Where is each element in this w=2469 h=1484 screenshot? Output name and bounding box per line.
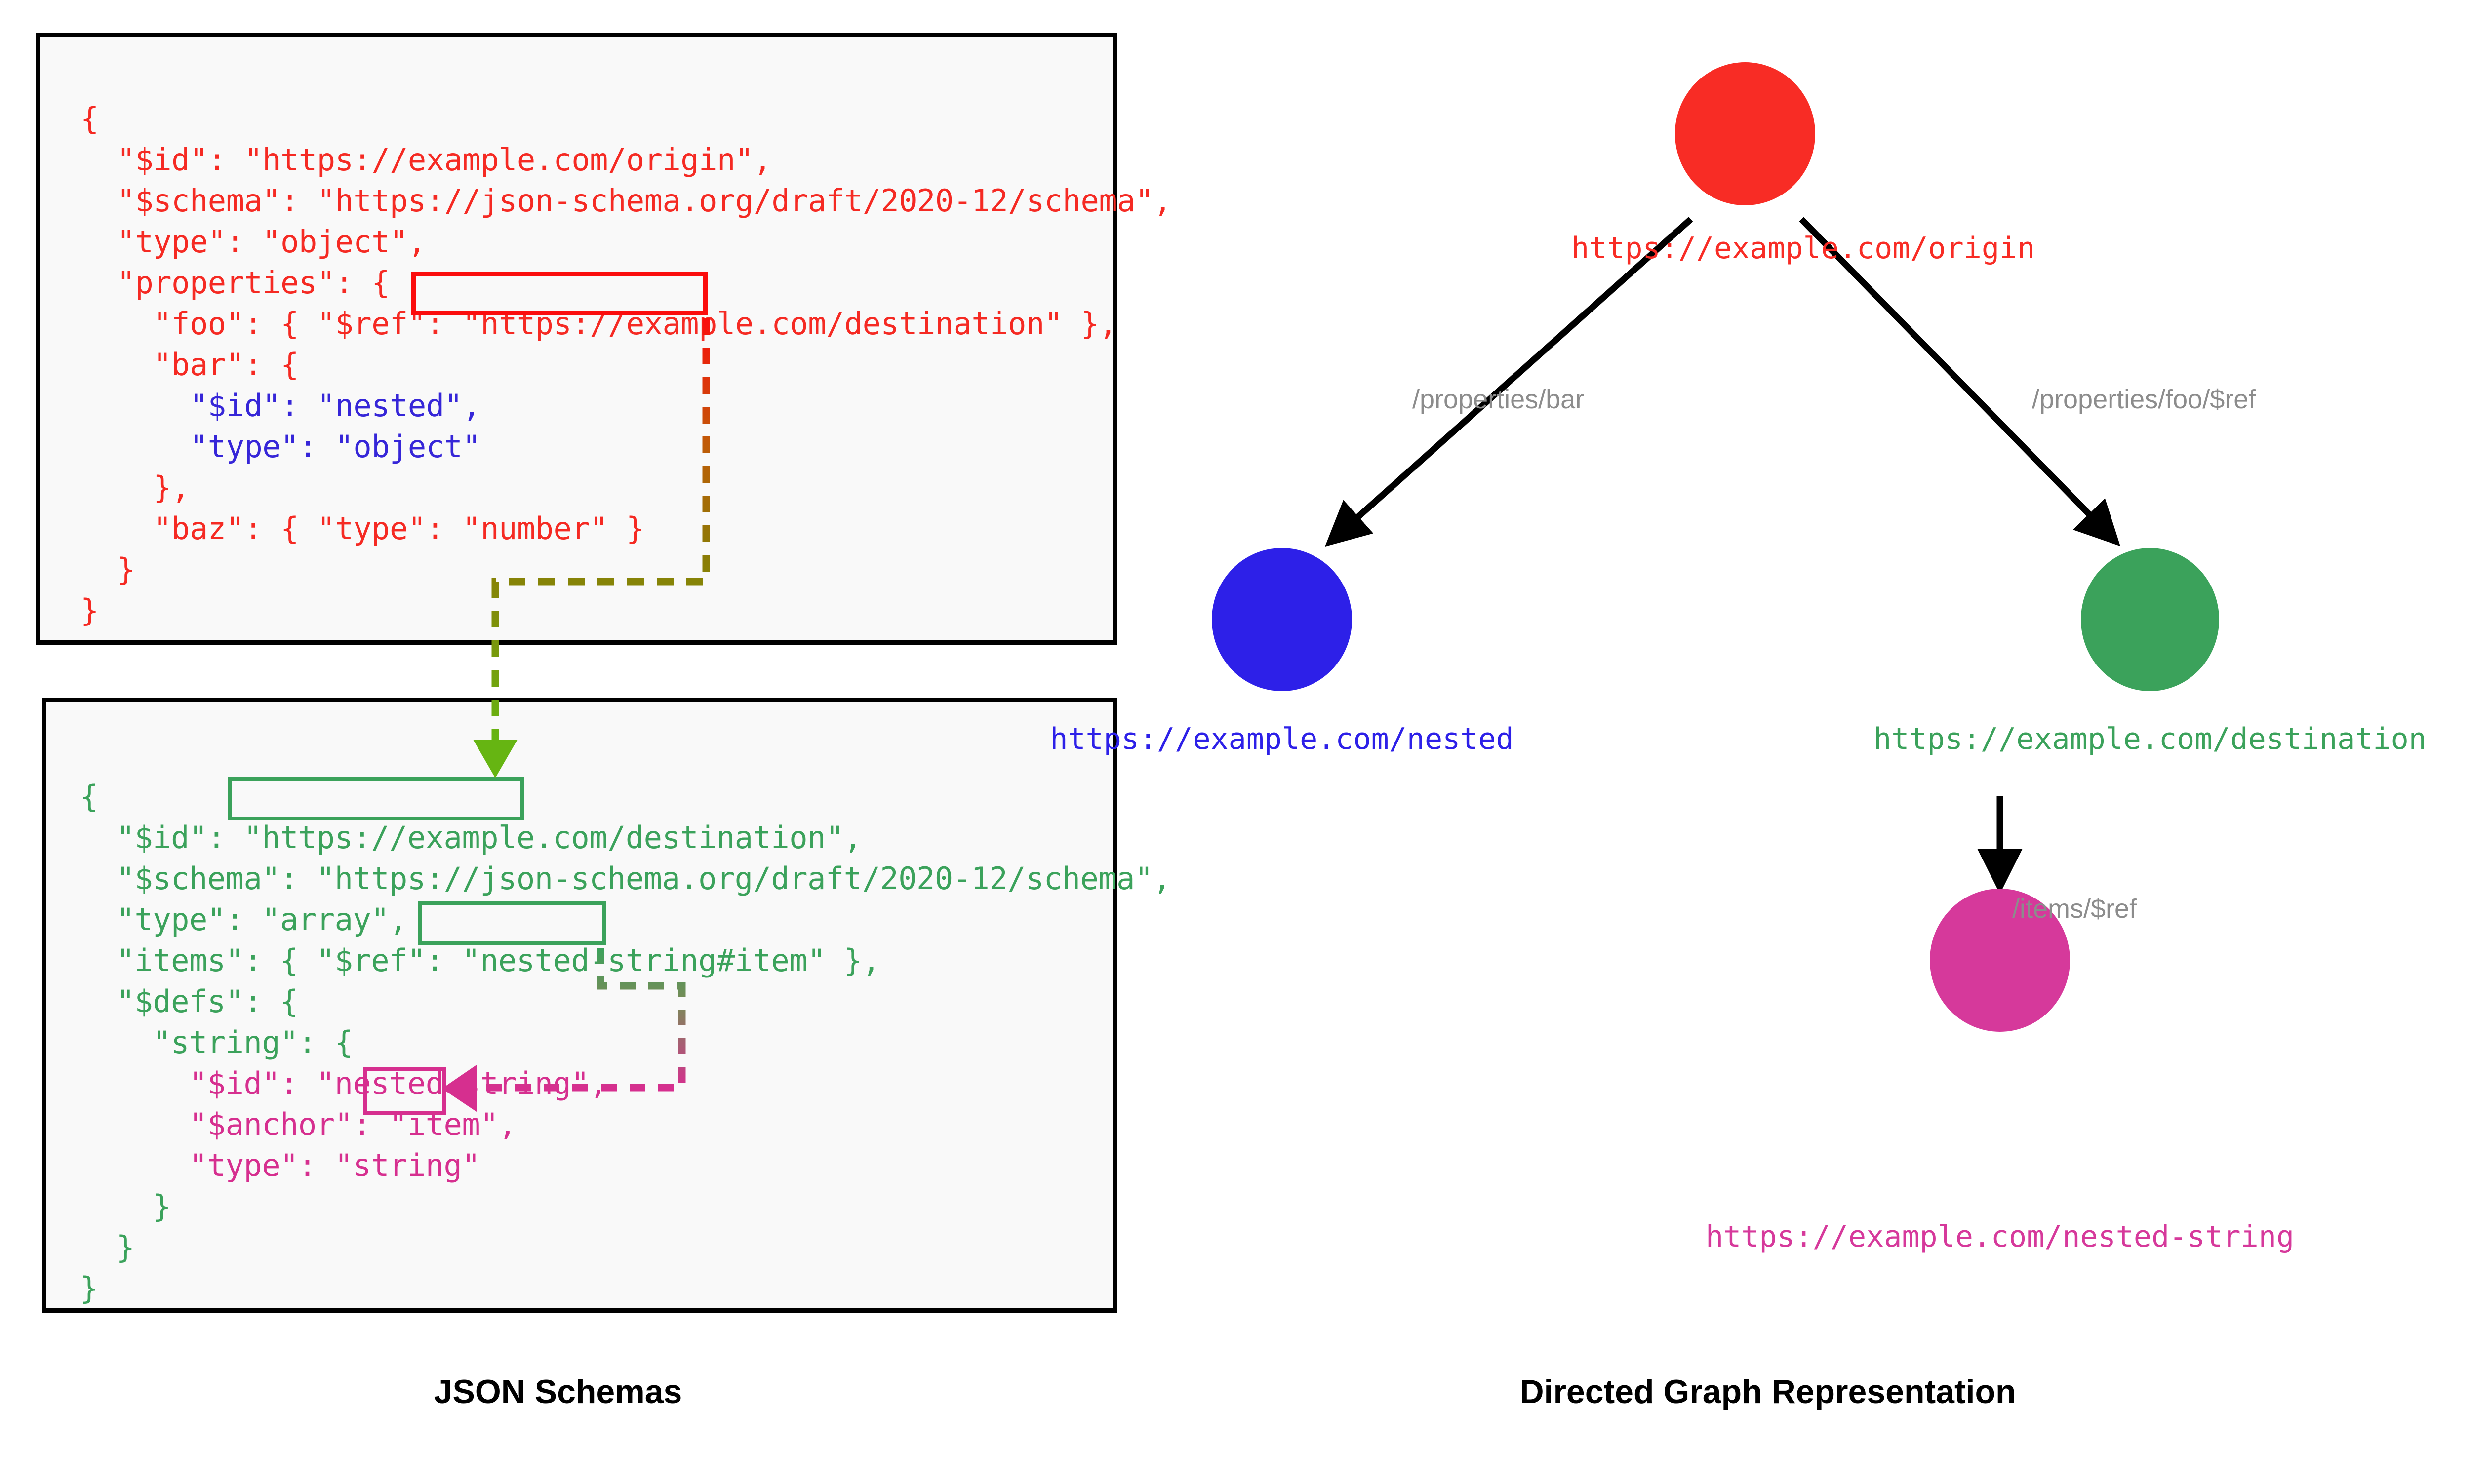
graph-edge-origin-destination	[1801, 219, 2112, 538]
code-line: "$defs": {	[80, 981, 1171, 1022]
code-line: },	[80, 467, 1172, 508]
highlight-destination-anchor	[363, 1067, 446, 1115]
code-line: "type": "string"	[80, 1145, 1171, 1186]
graph-node-label-origin: https://example.com/origin	[1571, 231, 2035, 266]
code-line: "type": "object",	[80, 221, 1172, 262]
code-line: "$id": "nested-string",	[80, 1063, 1171, 1104]
caption-json-schemas: JSON Schemas	[434, 1372, 682, 1411]
graph-node-label-nested: https://example.com/nested	[1050, 722, 1513, 756]
code-line: {	[80, 98, 1172, 139]
code-line: "items": { "$ref": "nested-string#item" …	[80, 940, 1171, 981]
schema-panel-destination: { "$id": "https://example.com/destinatio…	[42, 698, 1117, 1313]
code-line: }	[80, 590, 1172, 631]
code-line: "$id": "https://example.com/destination"…	[80, 817, 1171, 858]
schema-code-origin: { "$id": "https://example.com/origin", "…	[80, 98, 1172, 631]
highlight-origin-ref	[411, 272, 708, 315]
code-line: "$id": "https://example.com/origin",	[80, 139, 1172, 180]
code-line: "$anchor": "item",	[80, 1104, 1171, 1145]
code-line: "string": {	[80, 1022, 1171, 1063]
code-line: "type": "array",	[80, 899, 1171, 940]
graph-node-nested[interactable]	[1212, 548, 1352, 691]
code-line: "$schema": "https://json-schema.org/draf…	[80, 180, 1172, 221]
code-line: }	[80, 1186, 1171, 1227]
graph-node-destination[interactable]	[2081, 548, 2219, 691]
code-line: "baz": { "type": "number" }	[80, 508, 1172, 549]
code-line: }	[80, 1227, 1171, 1268]
figure-canvas: { "$id": "https://example.com/origin", "…	[0, 0, 2469, 1484]
schema-panel-origin: { "$id": "https://example.com/origin", "…	[36, 33, 1117, 645]
code-line: "$schema": "https://json-schema.org/draf…	[80, 858, 1171, 899]
graph-edge-origin-nested	[1333, 219, 1691, 539]
code-line: }	[80, 1268, 1171, 1309]
graph-node-label-destination: https://example.com/destination	[1873, 722, 2427, 756]
code-line: "type": "object"	[80, 426, 1172, 467]
graph-edge-label-items-ref: /items/$ref	[2012, 894, 2137, 924]
graph-node-label-nested-string: https://example.com/nested-string	[1706, 1219, 2294, 1254]
graph-node-origin[interactable]	[1675, 62, 1815, 205]
highlight-destination-ref	[418, 901, 606, 945]
highlight-destination-id	[228, 777, 524, 820]
graph-edge-label-properties-foo-ref: /properties/foo/$ref	[2032, 384, 2256, 415]
code-line: "bar": {	[80, 344, 1172, 385]
schema-code-destination: { "$id": "https://example.com/destinatio…	[80, 776, 1171, 1309]
caption-directed-graph: Directed Graph Representation	[1519, 1372, 2016, 1411]
graph-edge-label-properties-bar: /properties/bar	[1412, 384, 1584, 415]
code-line: "$id": "nested",	[80, 385, 1172, 426]
code-line: }	[80, 549, 1172, 590]
